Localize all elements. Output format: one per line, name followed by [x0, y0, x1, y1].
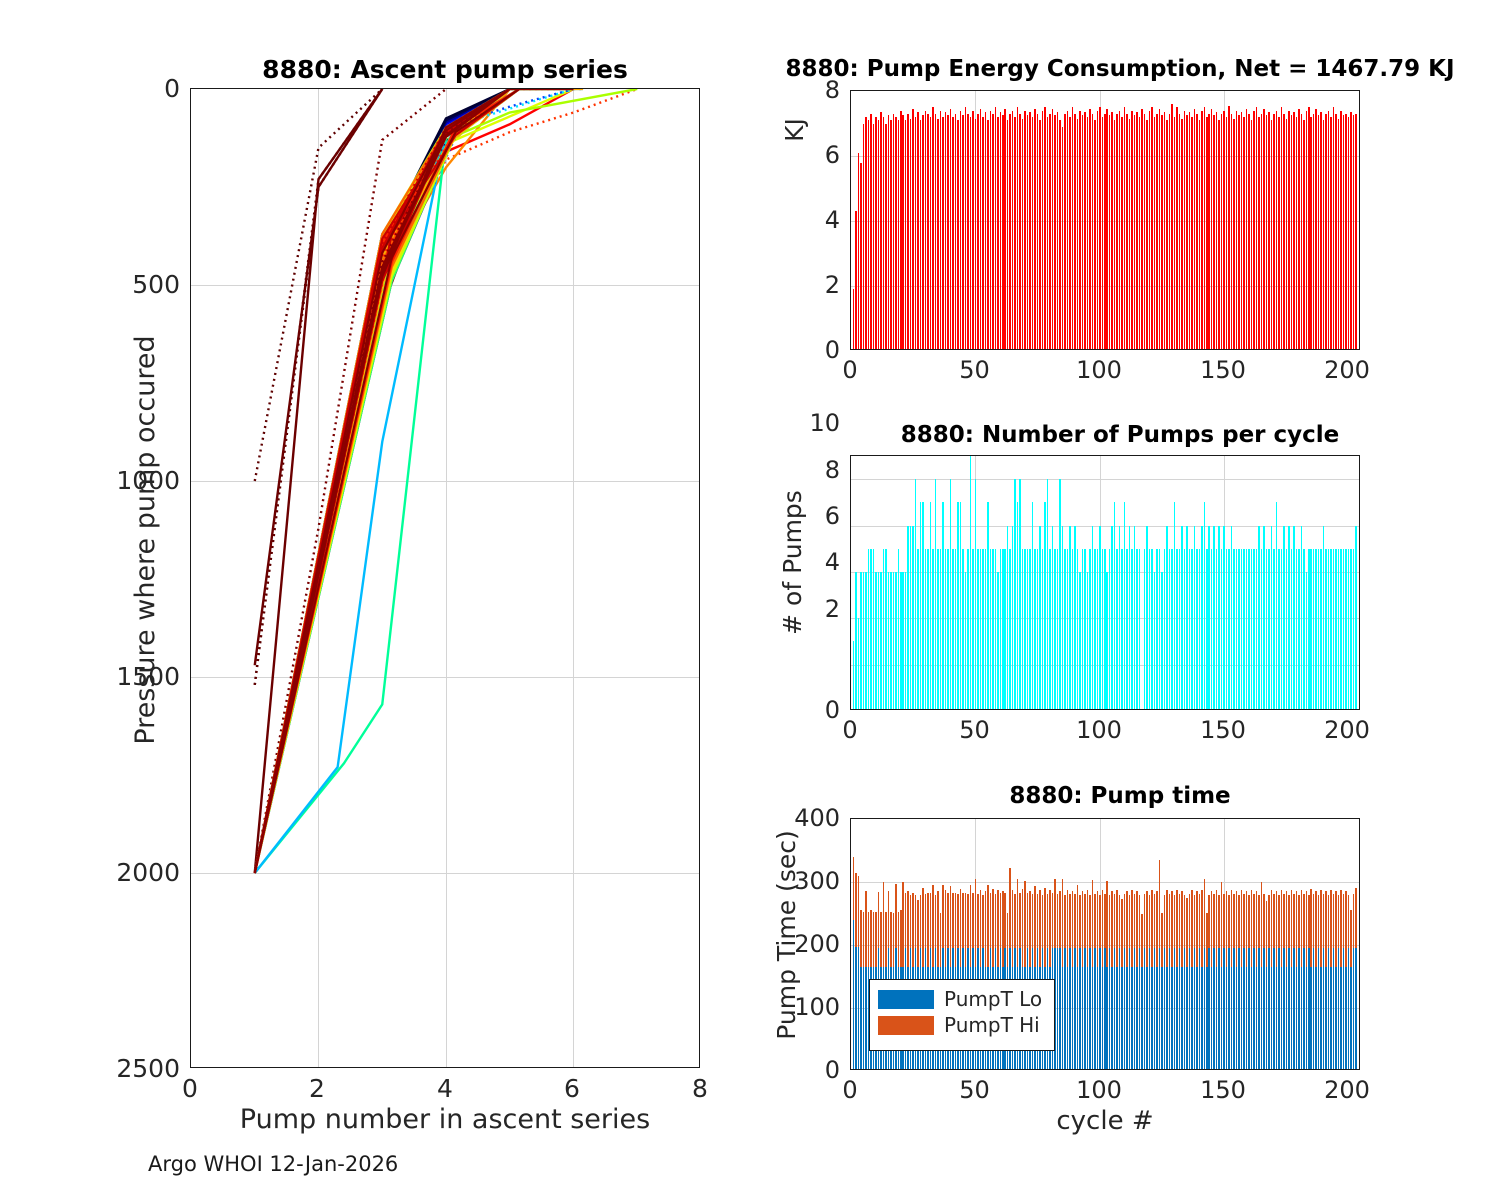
bar — [1318, 895, 1320, 949]
bar — [967, 114, 969, 350]
bar — [1189, 948, 1191, 1070]
xtick-label: 50 — [952, 716, 997, 744]
legend-label-pumpt-hi: PumpT Hi — [944, 1013, 1040, 1037]
pumps-per-cycle-bars — [851, 456, 1360, 710]
bar — [1166, 967, 1168, 1070]
bar — [1121, 549, 1123, 710]
bar — [1213, 894, 1215, 948]
bar — [1181, 526, 1183, 710]
bar — [1141, 109, 1143, 350]
bar — [1213, 526, 1215, 710]
bar — [1345, 114, 1347, 350]
ascent-profile-line — [255, 89, 510, 873]
bar — [1057, 549, 1059, 710]
bar — [1039, 890, 1041, 967]
bar — [1303, 120, 1305, 350]
bar — [1000, 112, 1002, 350]
bar — [1024, 549, 1026, 710]
bar — [982, 117, 984, 350]
bar — [1114, 894, 1116, 948]
ascent-profile-line — [255, 89, 510, 873]
bar — [1114, 120, 1116, 350]
bar — [1102, 967, 1104, 1070]
bar — [1216, 112, 1218, 350]
bar — [955, 114, 957, 350]
bar — [1139, 895, 1141, 949]
bar — [1009, 549, 1011, 710]
bar — [1278, 948, 1280, 1070]
bar — [863, 912, 865, 967]
ascent-profile-line — [255, 89, 520, 873]
bar — [1248, 114, 1250, 350]
bar — [1308, 107, 1310, 350]
bar — [1014, 117, 1016, 350]
ascent-profile-line — [255, 89, 510, 873]
bar — [972, 549, 974, 710]
bar — [1256, 549, 1258, 710]
bar — [947, 115, 949, 350]
xtick-label: 0 — [835, 1076, 865, 1104]
bar — [1042, 549, 1044, 710]
pump-time-axes: PumpT Lo PumpT Hi — [850, 818, 1360, 1070]
ascent-profile-line — [255, 89, 520, 873]
bar — [902, 572, 904, 710]
bar — [1149, 948, 1151, 1070]
bar — [1293, 112, 1295, 350]
bar — [1288, 895, 1290, 949]
bar — [1228, 895, 1230, 949]
pump-time-xaxis-label: cycle # — [850, 1106, 1360, 1136]
bar — [1156, 549, 1158, 710]
bar — [1069, 894, 1071, 948]
bar — [1029, 891, 1031, 967]
ascent-profile-line — [255, 89, 510, 873]
bar — [1181, 119, 1183, 350]
bar — [1032, 894, 1034, 948]
bar — [1057, 948, 1059, 1070]
bar — [1079, 948, 1081, 1070]
ascent-profile-line — [255, 89, 510, 873]
bar — [1253, 111, 1255, 351]
ascent-profile-line — [255, 89, 510, 873]
bar — [873, 124, 875, 351]
bar — [1216, 549, 1218, 710]
bar — [893, 114, 895, 350]
bar — [1256, 891, 1258, 967]
bar — [878, 572, 880, 710]
bar — [1353, 115, 1355, 350]
bar — [1124, 107, 1126, 350]
bar — [1273, 894, 1275, 948]
bar — [1027, 893, 1029, 948]
bar — [1189, 112, 1191, 350]
bar — [1236, 891, 1238, 967]
bar — [1338, 119, 1340, 350]
bar — [1298, 948, 1300, 1070]
bar — [1301, 526, 1303, 710]
pump-time-title: 8880: Pump time — [740, 783, 1500, 809]
bar — [1136, 549, 1138, 710]
ytick-label: 10 — [795, 409, 840, 437]
bar — [1218, 526, 1220, 710]
xtick-label: 150 — [1194, 716, 1252, 744]
bar — [1069, 117, 1071, 350]
ascent-profile-line — [255, 89, 510, 873]
ascent-profile-line — [255, 89, 383, 873]
ascent-profile-line — [255, 89, 510, 873]
bar — [1233, 119, 1235, 350]
bar — [853, 641, 855, 710]
bar — [1134, 948, 1136, 1070]
bar — [1002, 115, 1004, 350]
bar — [1174, 948, 1176, 1070]
bar — [977, 894, 979, 948]
ascent-profile-line — [255, 89, 510, 873]
pump-energy-yaxis-label: KJ — [780, 0, 809, 260]
bar — [1353, 948, 1355, 1070]
bar — [1039, 120, 1041, 350]
xtick-label: 100 — [1070, 716, 1128, 744]
bar — [950, 886, 952, 967]
bar — [972, 893, 974, 948]
xtick-label: 150 — [1194, 1076, 1252, 1104]
bar — [1338, 895, 1340, 949]
bar — [1012, 526, 1014, 710]
bar — [1246, 549, 1248, 710]
bar — [1124, 894, 1126, 948]
bar — [1268, 948, 1270, 1070]
bar — [947, 893, 949, 948]
bar — [1333, 549, 1335, 710]
bar — [1199, 120, 1201, 350]
bar — [997, 117, 999, 350]
bar — [1074, 948, 1076, 1070]
bar — [1283, 948, 1285, 1070]
bar — [1201, 967, 1203, 1070]
bar — [1208, 114, 1210, 350]
bar — [1179, 549, 1181, 710]
bar — [1253, 948, 1255, 1070]
bar — [1261, 882, 1263, 967]
bar — [1131, 549, 1133, 710]
bar — [1087, 117, 1089, 350]
bar — [1236, 111, 1238, 351]
bar — [1218, 120, 1220, 350]
bar — [1276, 111, 1278, 351]
bar — [1208, 526, 1210, 710]
bar — [1000, 893, 1002, 948]
bar — [1174, 895, 1176, 949]
bar — [925, 894, 927, 948]
ascent-profile-line — [255, 89, 510, 873]
ascent-profile-line — [255, 89, 510, 873]
bar — [1343, 549, 1345, 710]
bar — [1146, 967, 1148, 1070]
ascent-pump-series-title: 8880: Ascent pump series — [190, 55, 700, 84]
bar — [1293, 526, 1295, 710]
bar — [1171, 891, 1173, 967]
bar — [1246, 967, 1248, 1070]
bar — [920, 502, 922, 710]
legend-swatch-pumpt-hi — [878, 1016, 934, 1035]
bar — [985, 112, 987, 350]
ascent-profile-line — [255, 89, 510, 873]
bar — [992, 549, 994, 710]
bar — [1057, 112, 1059, 350]
bar — [1079, 111, 1081, 351]
bar — [1308, 895, 1310, 949]
bar — [1196, 114, 1198, 350]
bar — [1094, 549, 1096, 710]
ascent-profile-line — [255, 89, 510, 873]
bar — [1286, 119, 1288, 350]
bar — [1022, 889, 1024, 967]
bar — [962, 893, 964, 948]
bar — [1263, 894, 1265, 948]
ascent-profile-line — [255, 89, 510, 873]
bar — [875, 912, 877, 967]
bar — [855, 947, 857, 1070]
bar — [1072, 891, 1074, 967]
bar — [1149, 895, 1151, 949]
bar — [898, 120, 900, 350]
bar — [880, 912, 882, 967]
ascent-profile-line — [255, 89, 510, 873]
bar — [1348, 549, 1350, 710]
bar — [865, 891, 867, 967]
ascent-profile-line — [255, 89, 520, 873]
bar — [1019, 114, 1021, 350]
legend-item-pumpt-hi[interactable]: PumpT Hi — [878, 1012, 1046, 1038]
bar — [1218, 948, 1220, 1070]
bar — [1131, 111, 1133, 351]
bar — [1278, 549, 1280, 710]
bar — [915, 117, 917, 350]
bar — [1121, 117, 1123, 350]
bar — [1286, 549, 1288, 710]
bar — [1348, 117, 1350, 350]
bar — [1241, 967, 1243, 1070]
bar — [888, 115, 890, 350]
bar — [1211, 967, 1213, 1070]
bar — [880, 572, 882, 710]
ytick-label: 0 — [795, 696, 840, 724]
bar — [1134, 526, 1136, 710]
bar — [1084, 894, 1086, 948]
bar — [1129, 948, 1131, 1070]
bar — [1201, 526, 1203, 710]
bar — [1194, 109, 1196, 350]
bar — [907, 526, 909, 710]
ascent-profile-line — [255, 89, 510, 873]
bar — [1099, 107, 1101, 350]
bar — [1221, 967, 1223, 1070]
bar — [1348, 895, 1350, 949]
bar — [1092, 526, 1094, 710]
bar — [1077, 119, 1079, 350]
bar — [1186, 115, 1188, 350]
bar — [1296, 549, 1298, 710]
pump-time-legend[interactable]: PumpT Lo PumpT Hi — [869, 979, 1055, 1051]
bar — [1009, 868, 1011, 949]
bar — [1049, 114, 1051, 350]
bar — [1194, 526, 1196, 710]
bar — [1149, 549, 1151, 710]
bar — [917, 900, 919, 967]
bar — [995, 549, 997, 710]
bar — [898, 549, 900, 710]
bar — [940, 913, 942, 967]
bar — [960, 889, 962, 967]
bar — [868, 120, 870, 350]
ascent-profile-line — [255, 89, 510, 873]
ascent-profile-line — [255, 89, 510, 873]
pumps-per-cycle-yaxis-label: # of Pumps — [778, 435, 807, 690]
bar — [1278, 117, 1280, 350]
bar — [1002, 891, 1004, 967]
bar — [1298, 549, 1300, 710]
bar — [1019, 479, 1021, 710]
bar — [1176, 967, 1178, 1070]
ascent-profile-line — [255, 89, 520, 873]
bar — [922, 888, 924, 967]
bar — [1139, 117, 1141, 350]
bar — [870, 114, 872, 350]
bar — [1106, 967, 1108, 1070]
bar — [1243, 117, 1245, 350]
bar — [1268, 895, 1270, 949]
bar — [1126, 549, 1128, 710]
bar — [1166, 890, 1168, 967]
bar — [1042, 895, 1044, 949]
bar — [1129, 119, 1131, 350]
bar — [1208, 948, 1210, 1070]
bar — [1072, 107, 1074, 350]
bar — [932, 885, 934, 967]
bar — [883, 549, 885, 710]
ascent-profile-line — [255, 89, 383, 481]
bar — [1014, 894, 1016, 948]
bar — [910, 895, 912, 949]
legend-item-pumpt-lo[interactable]: PumpT Lo — [878, 986, 1046, 1012]
bar — [1154, 572, 1156, 710]
bar — [1136, 891, 1138, 967]
bar — [1345, 967, 1347, 1070]
ascent-profile-line — [255, 89, 510, 873]
bar — [1206, 967, 1208, 1070]
ascent-profile-line — [255, 89, 510, 873]
ascent-profile-line — [255, 89, 510, 873]
bar — [1092, 114, 1094, 350]
bar — [1119, 895, 1121, 949]
bar — [1174, 117, 1176, 350]
bar — [950, 479, 952, 710]
bar — [860, 163, 862, 351]
bar — [1097, 549, 1099, 710]
bar — [1052, 893, 1054, 948]
bar — [1281, 890, 1283, 967]
bar — [1196, 967, 1198, 1070]
bar — [1315, 891, 1317, 967]
bar — [965, 572, 967, 710]
bar — [1126, 967, 1128, 1070]
bar — [942, 502, 944, 710]
bar — [888, 891, 890, 948]
legend-label-pumpt-lo: PumpT Lo — [944, 987, 1042, 1011]
bar — [1191, 890, 1193, 967]
bar — [1253, 549, 1255, 710]
bar — [947, 549, 949, 710]
ytick-label: 2 — [805, 271, 840, 299]
bar — [1087, 572, 1089, 710]
ascent-profile-line — [255, 89, 520, 873]
bar — [1233, 549, 1235, 710]
bar — [1189, 549, 1191, 710]
bar — [1343, 948, 1345, 1070]
ascent-profile-line — [255, 89, 510, 873]
bar — [1330, 117, 1332, 350]
bar — [1206, 549, 1208, 710]
bar — [1169, 549, 1171, 710]
ascent-profile-line — [255, 89, 638, 873]
bar — [1079, 895, 1081, 949]
bar — [1119, 111, 1121, 351]
bar — [1092, 880, 1094, 967]
bar — [1288, 948, 1290, 1070]
xtick-label: 50 — [952, 1076, 997, 1104]
bar — [1268, 549, 1270, 710]
bar — [878, 892, 880, 948]
ascent-pump-series-axes — [190, 88, 700, 1068]
bar — [900, 572, 902, 710]
bar — [975, 479, 977, 710]
bar — [952, 117, 954, 350]
bar — [1171, 549, 1173, 710]
bar — [907, 114, 909, 350]
bar — [1266, 115, 1268, 350]
ascent-profile-line — [255, 89, 510, 873]
bar — [1328, 895, 1330, 949]
ascent-profile-line — [255, 89, 520, 873]
ascent-profile-line — [255, 89, 510, 873]
bar — [937, 891, 939, 967]
bar — [1032, 502, 1034, 710]
bar — [1017, 879, 1019, 967]
ascent-profile-line — [255, 89, 510, 873]
bar — [1340, 967, 1342, 1070]
bar — [1067, 967, 1069, 1070]
ascent-profile-line — [255, 89, 510, 873]
bar — [870, 549, 872, 710]
bar — [1102, 549, 1104, 710]
bar — [912, 526, 914, 710]
bar — [895, 117, 897, 350]
bar — [1144, 549, 1146, 710]
ascent-profile-line — [255, 89, 520, 873]
bar — [1141, 914, 1143, 968]
bar — [1194, 948, 1196, 1070]
ascent-profile-line — [255, 89, 510, 873]
bar — [960, 111, 962, 351]
bar — [915, 479, 917, 710]
bar — [1067, 890, 1069, 967]
bar — [1263, 109, 1265, 350]
bar — [1194, 895, 1196, 949]
ascent-profile-line — [255, 89, 510, 873]
bar — [1002, 549, 1004, 710]
ascent-profile-line — [255, 89, 510, 873]
bar — [1353, 894, 1355, 948]
